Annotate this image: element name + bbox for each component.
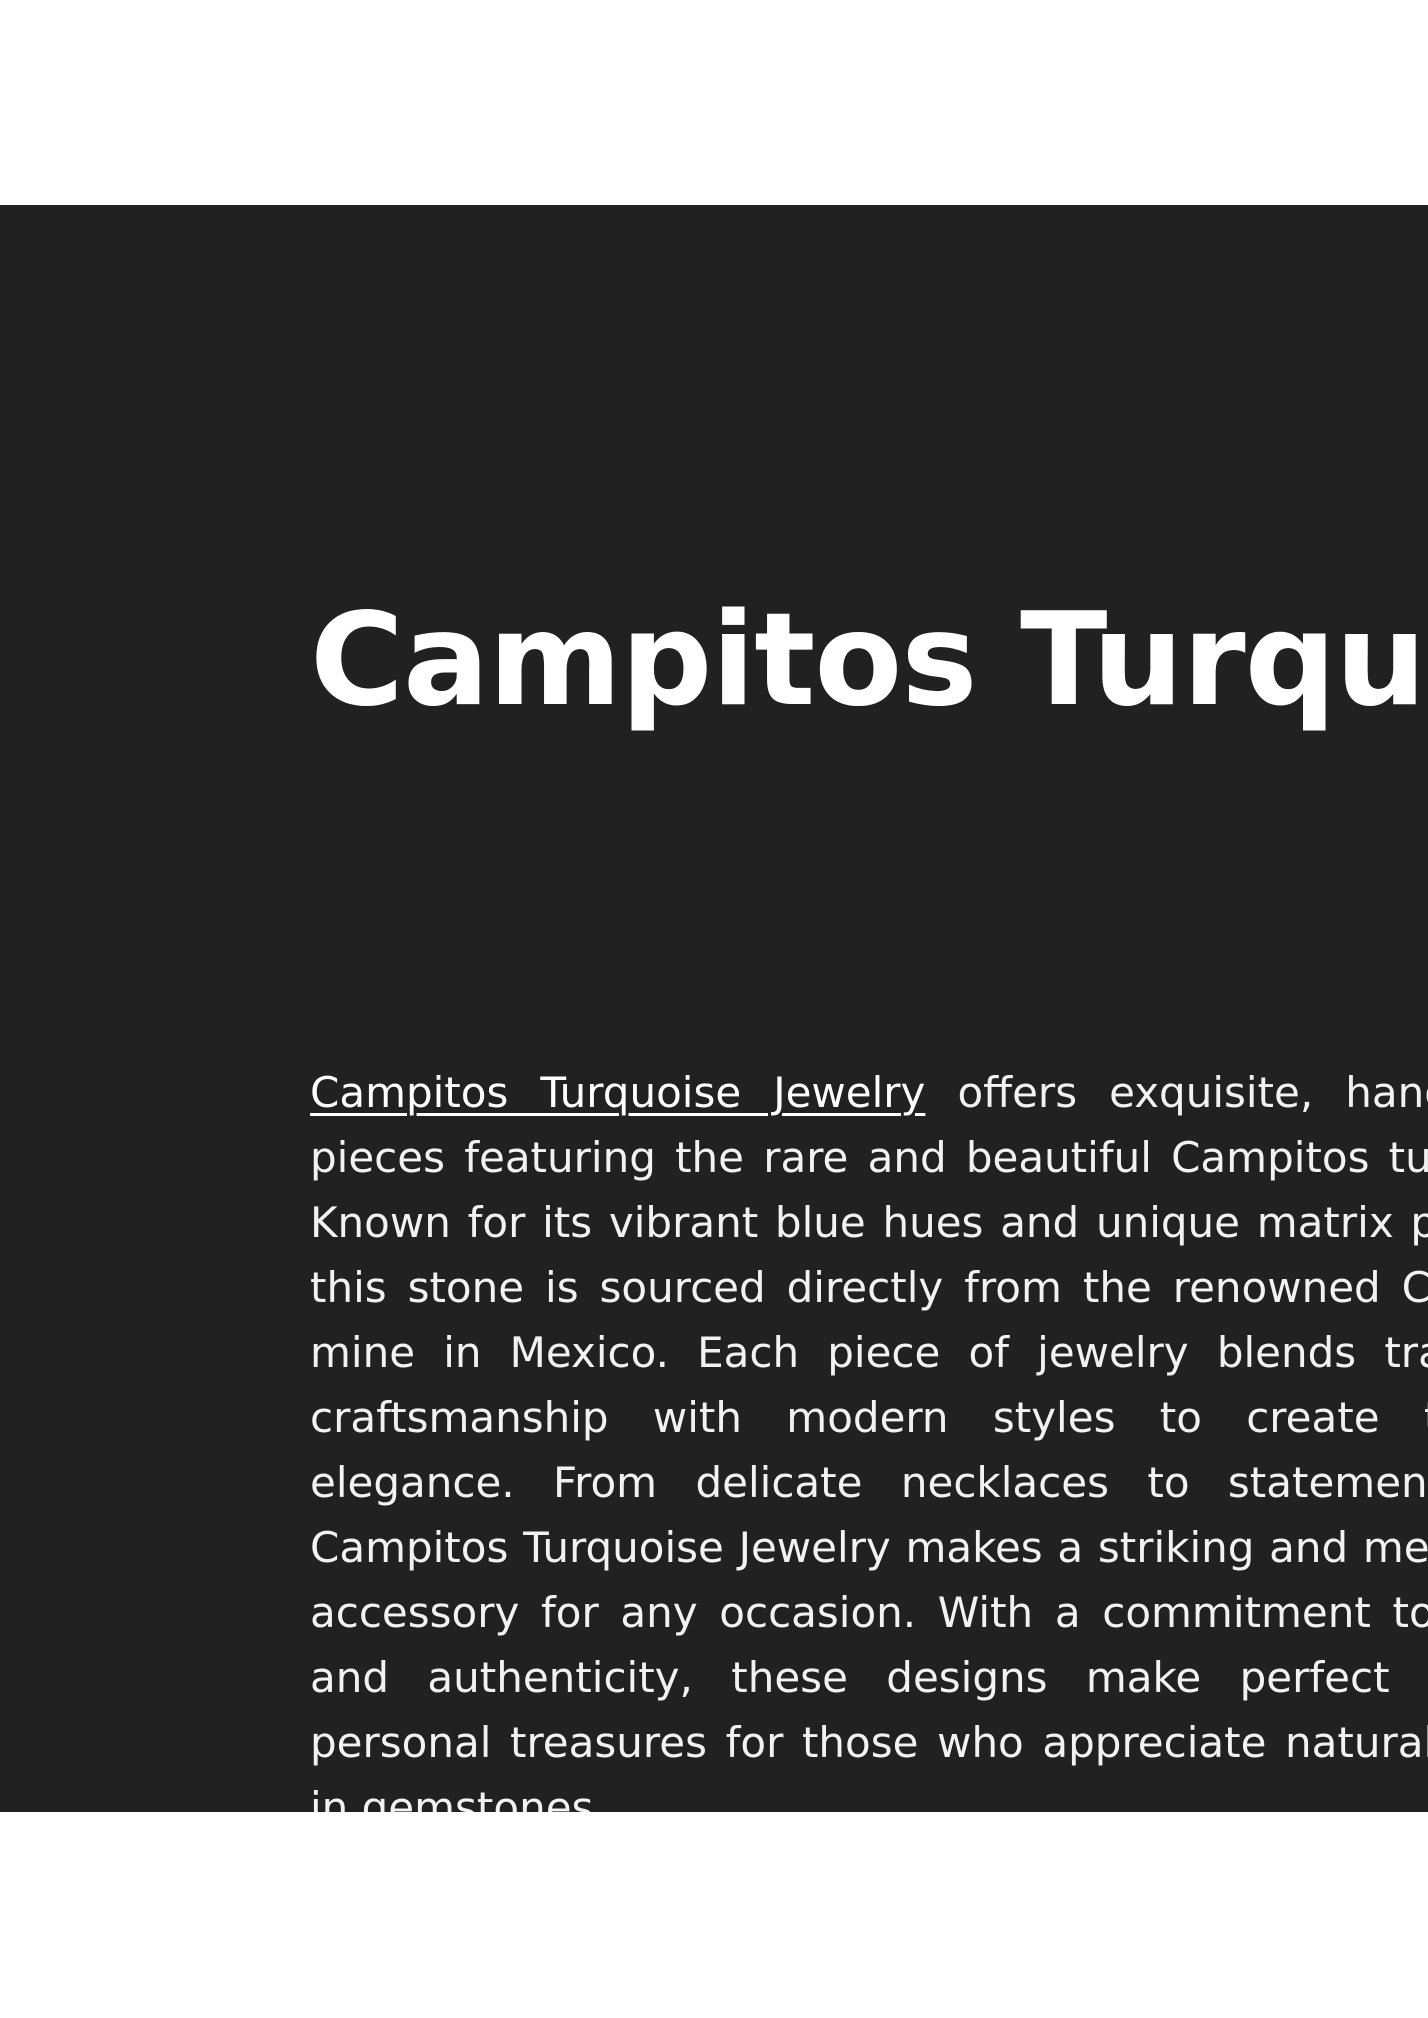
campitos-turquoise-jewelry-link[interactable]: Campitos Turquoise Jewelry bbox=[310, 1068, 925, 1117]
page-bottom-whitespace bbox=[0, 1812, 1428, 2018]
page-top-whitespace bbox=[0, 0, 1428, 205]
article-body-text: offers exquisite, handcrafted pieces fea… bbox=[310, 1068, 1428, 1812]
article-panel: Campitos Turquoise Campitos Turquoise Je… bbox=[0, 205, 1428, 1812]
page-title: Campitos Turquoise bbox=[310, 585, 1428, 736]
article-body-paragraph: Campitos Turquoise Jewelry offers exquis… bbox=[310, 1060, 1428, 1812]
